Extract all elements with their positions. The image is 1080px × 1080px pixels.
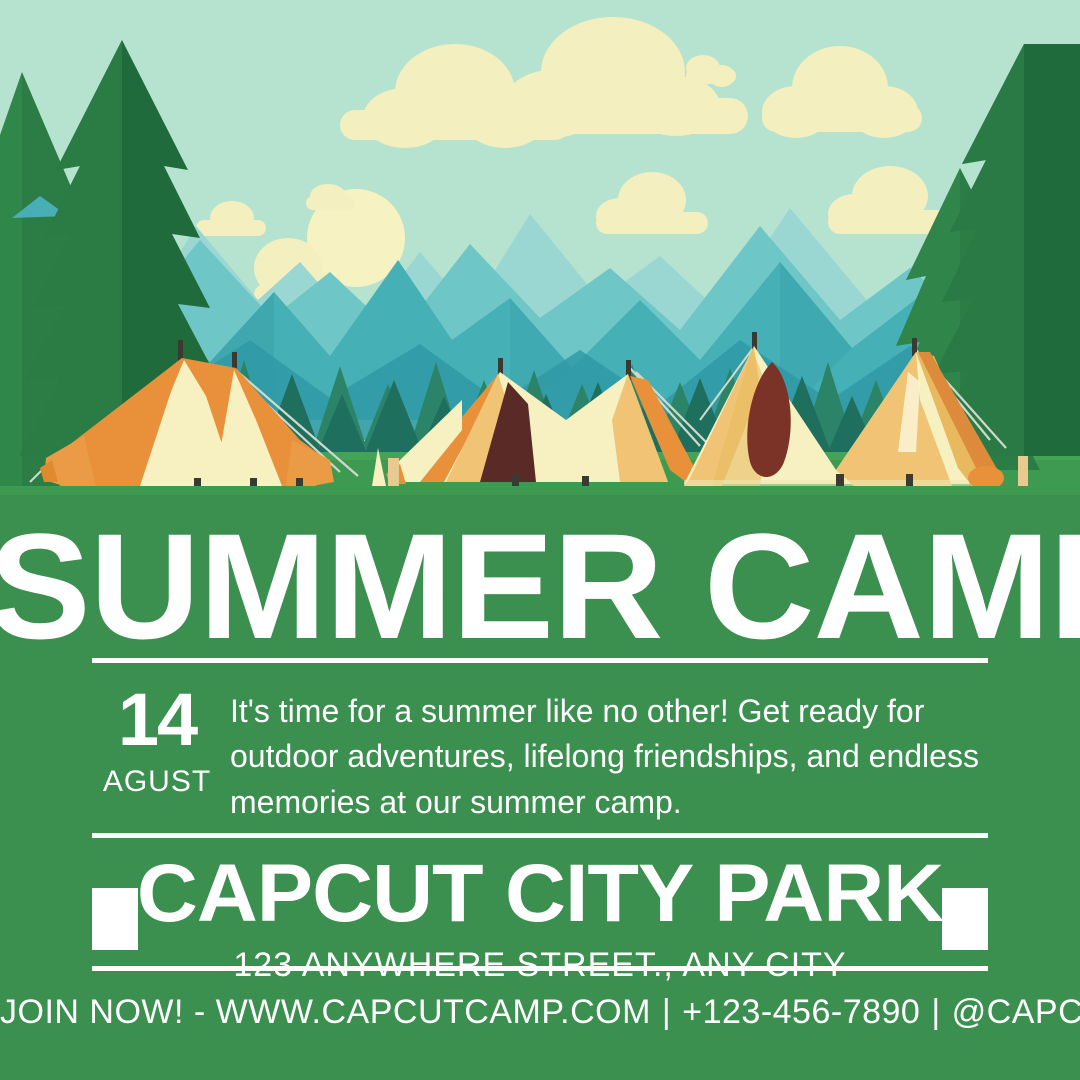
event-date-block: 14 AGUST [92,687,222,797]
venue-flank-left [92,888,138,950]
tent-peg [512,474,519,486]
event-date-day: 14 [92,690,222,751]
summer-camp-poster: SUMMER CAMP 14 AGUST It's time for a sum… [0,0,1080,1080]
event-date-month: AGUST [92,767,222,797]
event-info-row: 14 AGUST It's time for a summer like no … [92,687,997,825]
poster-title-wrap: SUMMER CAMP [0,517,1080,657]
venue-flank-right [942,888,988,950]
footer-separator-1: | [651,993,682,1032]
footer-separator-2: | [920,993,951,1032]
page-title: SUMMER CAMP [0,517,1080,657]
poster-text-panel: SUMMER CAMP 14 AGUST It's time for a sum… [0,495,1080,1080]
footer-phone[interactable]: +123-456-7890 [682,993,920,1031]
footer-cta[interactable]: JOIN NOW! - WWW.CAPCUTCAMP.COM [0,993,651,1031]
camp-post [388,458,399,486]
footer-handle[interactable]: @CAPCUT [952,993,1080,1031]
divider-middle [92,833,988,838]
camp-scene-illustration [0,0,1080,500]
poster-footer: JOIN NOW! - WWW.CAPCUTCAMP.COM|+123-456-… [0,993,1080,1032]
tent-peg [836,474,844,486]
tent-peg [582,476,589,487]
event-description: It's time for a summer like no other! Ge… [222,687,997,825]
scene-svg [0,0,1080,500]
tent-peg [906,474,913,486]
divider-bottom [92,966,988,971]
divider-top [92,658,988,663]
venue-name: CAPCUT CITY PARK [136,853,944,935]
